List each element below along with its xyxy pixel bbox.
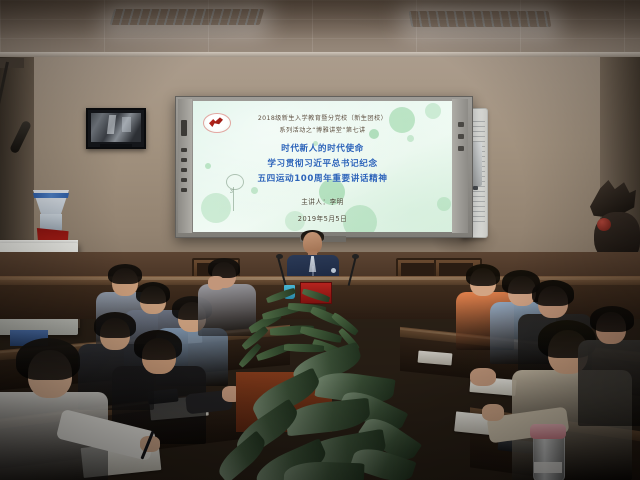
speaker-badge-icon bbox=[331, 268, 336, 273]
vase-blue-band bbox=[33, 193, 69, 198]
slide-header-line-1: 2018级新生入学教育暨分党校（新生团校） bbox=[193, 113, 452, 122]
slide-speaker-line: 主讲人：李明 bbox=[193, 196, 452, 206]
ceiling-shading bbox=[0, 0, 640, 58]
presentation-slide: 3 2018级新生入学教育暨分党校（新生团校） 系列活动之“博雅讲堂”第七讲 时… bbox=[193, 101, 452, 232]
screen-control-power[interactable] bbox=[181, 120, 187, 136]
audience-left-far-1-hair bbox=[108, 264, 142, 284]
slide-main-line-3: 五四运动100周年重要讲话精神 bbox=[193, 172, 452, 184]
wall-monitor bbox=[86, 108, 146, 149]
slide-circle-7 bbox=[251, 187, 258, 194]
monitor-bottom-bar bbox=[100, 144, 131, 147]
slide-header-line-2: 系列活动之“博雅讲堂”第七讲 bbox=[193, 125, 452, 134]
audience-left-front-black-hair bbox=[134, 330, 182, 360]
slide-main-line-2: 学习贯彻习近平总书记纪念 bbox=[193, 157, 452, 169]
slide-date-line: 2019年5月5日 bbox=[193, 213, 452, 223]
audience-right-striped-hands bbox=[470, 368, 496, 386]
water-bottle-label bbox=[534, 462, 562, 473]
screen-control-3[interactable] bbox=[181, 168, 187, 172]
screen-control-4[interactable] bbox=[181, 178, 187, 182]
ceiling bbox=[0, 0, 640, 58]
water-bottle bbox=[533, 434, 565, 480]
audience-left-grey-hand bbox=[208, 276, 224, 290]
audience-left-grey-body bbox=[198, 284, 256, 336]
audience-right-dark-1-hair bbox=[532, 280, 574, 306]
audience-left-mid-1-hair bbox=[94, 312, 136, 338]
audience-right-beige-hand bbox=[482, 404, 504, 421]
lecture-hall-photo: 3 2018级新生入学教育暨分党校（新生团校） 系列活动之“博雅讲堂”第七讲 时… bbox=[0, 0, 640, 480]
eagle-sculpture-head bbox=[597, 218, 611, 231]
monitor-glare bbox=[107, 115, 116, 134]
audience-right-orange-hair bbox=[466, 264, 500, 286]
monitor-screen bbox=[91, 113, 141, 142]
screen-control-right-2[interactable] bbox=[458, 134, 464, 139]
screen-control-1[interactable] bbox=[181, 148, 187, 152]
audience-left-far-2-hair bbox=[136, 282, 170, 304]
boom-mount bbox=[0, 58, 24, 68]
slide-main-line-1: 时代新人的时代使命 bbox=[193, 142, 452, 154]
screen-control-right-1[interactable] bbox=[458, 122, 464, 127]
air-conditioner-led-icon bbox=[473, 186, 478, 190]
head-table-highlight bbox=[0, 277, 640, 280]
screen-control-right-3[interactable] bbox=[458, 146, 464, 151]
tree-illustration-number: 3 bbox=[230, 189, 233, 195]
water-bottle-cap bbox=[530, 424, 566, 439]
screen-control-5[interactable] bbox=[181, 188, 187, 192]
stage-chair-2-seat bbox=[401, 263, 435, 277]
audience-right-far-hair bbox=[590, 306, 634, 332]
monitor-glare-secondary bbox=[122, 117, 131, 132]
screen-control-2[interactable] bbox=[181, 158, 187, 162]
audience-left-grey-hair bbox=[208, 258, 240, 278]
audience-left-front-white-hair bbox=[16, 338, 80, 380]
slide-circle-4 bbox=[407, 135, 414, 142]
screen-bezel-right bbox=[452, 99, 468, 233]
audience-right-far-body bbox=[578, 340, 640, 426]
